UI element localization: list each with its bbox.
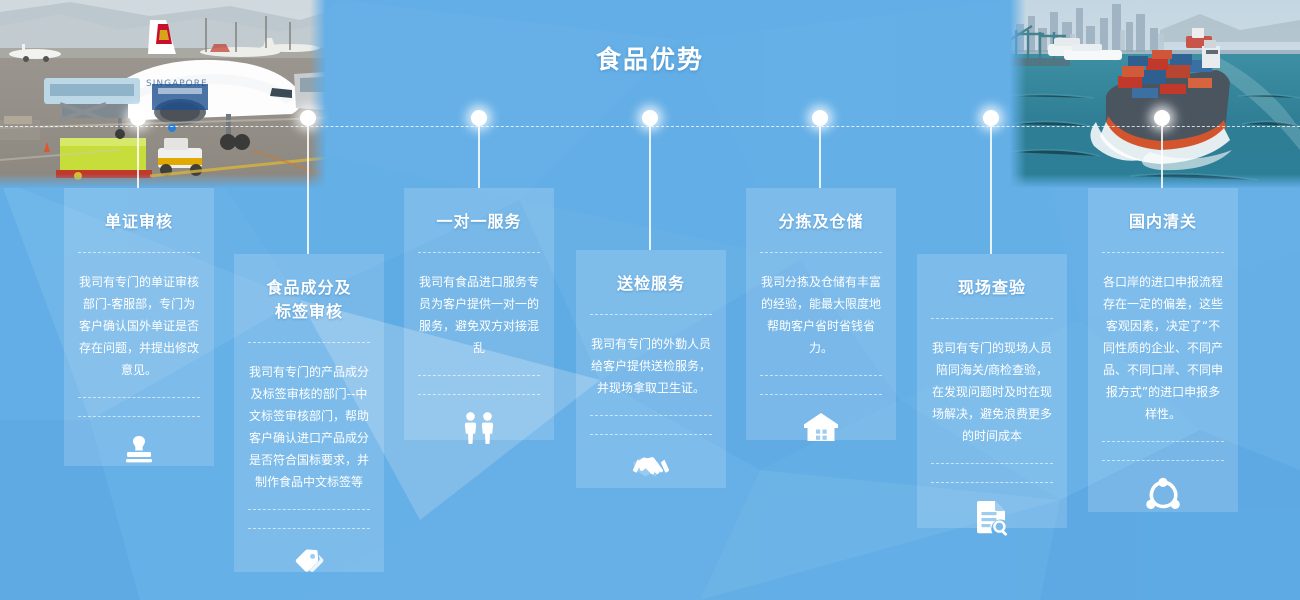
timeline-dot-2 <box>300 110 316 126</box>
card-rule-bottom <box>590 415 712 416</box>
timeline-stem-2 <box>307 124 309 254</box>
timeline-stem-6 <box>990 124 992 254</box>
container-ship-photo <box>1010 0 1300 188</box>
card-rule-top <box>418 252 540 253</box>
right-photo-left-fade <box>1010 0 1026 188</box>
card-title: 国内清关 <box>1129 210 1197 234</box>
network-share-icon <box>1102 477 1224 513</box>
card-body: 我司有食品进口服务专员为客户提供一对一的服务，避免双方对接混乱 <box>418 271 540 359</box>
timeline-stem-1 <box>137 124 139 188</box>
card-title: 现场查验 <box>958 276 1026 300</box>
card-rule-bottom2 <box>248 528 370 529</box>
left-photo-right-fade <box>310 0 326 188</box>
document-search-icon <box>931 499 1053 537</box>
card-body: 我司有专门的产品成分及标签审核的部门--中文标签审核部门，帮助客户确认进口产品成… <box>248 361 370 493</box>
timeline-stem-4 <box>649 124 651 250</box>
card-rule-bottom <box>418 375 540 376</box>
timeline-stem-5 <box>819 124 821 188</box>
card-ingredient-label-review[interactable]: 食品成分及标签审核我司有专门的产品成分及标签审核的部门--中文标签审核部门，帮助… <box>234 254 384 572</box>
airport-cargo-loading-photo: SINGAPORE <box>0 0 326 188</box>
timeline-dot-3 <box>471 110 487 126</box>
card-title: 食品成分及标签审核 <box>266 276 351 324</box>
card-rule-bottom2 <box>760 394 882 395</box>
card-rule-top <box>760 252 882 253</box>
card-body: 我司分拣及仓储有丰富的经验，能最大限度地帮助客户省时省钱省力。 <box>760 271 882 359</box>
card-rule-bottom2 <box>1102 460 1224 461</box>
card-title: 一对一服务 <box>436 210 521 234</box>
right-photo-bottom-fade <box>1010 174 1300 188</box>
card-sorting-warehousing[interactable]: 分拣及仓储我司分拣及仓储有丰富的经验，能最大限度地帮助客户省时省钱省力。 <box>746 188 896 440</box>
card-rule-top <box>931 318 1053 319</box>
page-title: 食品优势 <box>0 40 1300 76</box>
card-rule-bottom <box>78 397 200 398</box>
page-root: SINGAPORE <box>0 0 1300 600</box>
left-photo-bottom-fade <box>0 174 326 188</box>
card-rule-bottom <box>931 463 1053 464</box>
card-body: 各口岸的进口申报流程存在一定的偏差，这些客观因素，决定了“不同性质的企业、不同产… <box>1102 271 1224 425</box>
card-rule-bottom2 <box>931 482 1053 483</box>
timeline-stem-7 <box>1161 124 1163 188</box>
card-body: 我司有专门的外勤人员给客户提供送检服务，并现场拿取卫生证。 <box>590 333 712 399</box>
card-title: 单证审核 <box>105 210 173 234</box>
card-inspection-delivery[interactable]: 送检服务我司有专门的外勤人员给客户提供送检服务，并现场拿取卫生证。 <box>576 250 726 488</box>
two-people-icon <box>418 411 540 445</box>
timeline-dot-6 <box>983 110 999 126</box>
card-rule-bottom2 <box>418 394 540 395</box>
card-domestic-customs-clearance[interactable]: 国内清关各口岸的进口申报流程存在一定的偏差，这些客观因素，决定了“不同性质的企业… <box>1088 188 1238 512</box>
timeline-dot-4 <box>642 110 658 126</box>
card-onsite-inspection[interactable]: 现场查验我司有专门的现场人员陪同海关/商检查验，在发现问题时及时在现场解决，避免… <box>917 254 1067 528</box>
card-title: 送检服务 <box>617 272 685 296</box>
card-rule-bottom2 <box>590 434 712 435</box>
card-rule-bottom <box>760 375 882 376</box>
card-rule-top <box>248 342 370 343</box>
handshake-icon <box>590 451 712 483</box>
card-one-to-one-service[interactable]: 一对一服务我司有食品进口服务专员为客户提供一对一的服务，避免双方对接混乱 <box>404 188 554 440</box>
timeline-dot-5 <box>812 110 828 126</box>
card-rule-bottom2 <box>78 416 200 417</box>
stamp-icon <box>78 433 200 467</box>
card-rule-top <box>1102 252 1224 253</box>
warehouse-icon <box>760 411 882 443</box>
card-rule-top <box>590 314 712 315</box>
card-document-review[interactable]: 单证审核我司有专门的单证审核部门-客服部，专门为客户确认国外单证是否存在问题，并… <box>64 188 214 466</box>
card-title: 分拣及仓储 <box>778 210 863 234</box>
card-body: 我司有专门的现场人员陪同海关/商检查验，在发现问题时及时在现场解决，避免浪费更多… <box>931 337 1053 447</box>
card-rule-bottom <box>1102 441 1224 442</box>
timeline-stem-3 <box>478 124 480 188</box>
card-rule-bottom <box>248 509 370 510</box>
card-rule-top <box>78 252 200 253</box>
tag-icon <box>248 545 370 581</box>
card-body: 我司有专门的单证审核部门-客服部，专门为客户确认国外单证是否存在问题，并提出修改… <box>78 271 200 381</box>
timeline-dot-1 <box>130 110 146 126</box>
timeline-dot-7 <box>1154 110 1170 126</box>
